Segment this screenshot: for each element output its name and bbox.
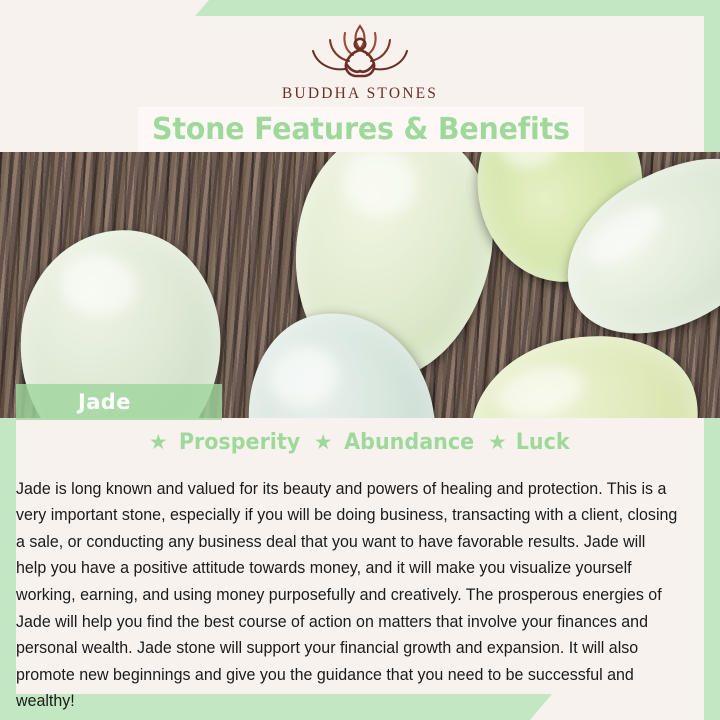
stone-name-label: Jade xyxy=(78,390,131,414)
keyword-abundance: ★ Abundance xyxy=(314,430,478,455)
description-paragraph: Jade is long known and valued for its be… xyxy=(16,476,680,715)
keyword-prosperity: ★ Prosperity xyxy=(149,430,304,455)
brand-header: BUDDHA STONES xyxy=(16,16,704,106)
infographic-page: BUDDHA STONES Stone Features & Benefits … xyxy=(0,0,720,720)
stone-photo xyxy=(0,152,720,418)
keyword-luck: ★ Luck xyxy=(488,430,571,455)
star-icon: ★ xyxy=(488,432,507,453)
decorative-band-top xyxy=(195,0,720,16)
star-icon: ★ xyxy=(314,432,333,453)
page-title: Stone Features & Benefits xyxy=(152,112,570,147)
brand-wordmark: BUDDHA STONES xyxy=(282,85,438,103)
keyword-label: Prosperity xyxy=(179,430,300,455)
title-banner: Stone Features & Benefits xyxy=(138,107,584,152)
keyword-label: Luck xyxy=(516,430,570,455)
star-icon: ★ xyxy=(149,432,168,453)
lotus-meditation-icon xyxy=(301,20,419,82)
benefit-keywords: ★ Prosperity ★ Abundance ★ Luck xyxy=(16,430,704,455)
keyword-label: Abundance xyxy=(344,430,474,455)
stone-name-bar: Jade xyxy=(16,384,222,420)
